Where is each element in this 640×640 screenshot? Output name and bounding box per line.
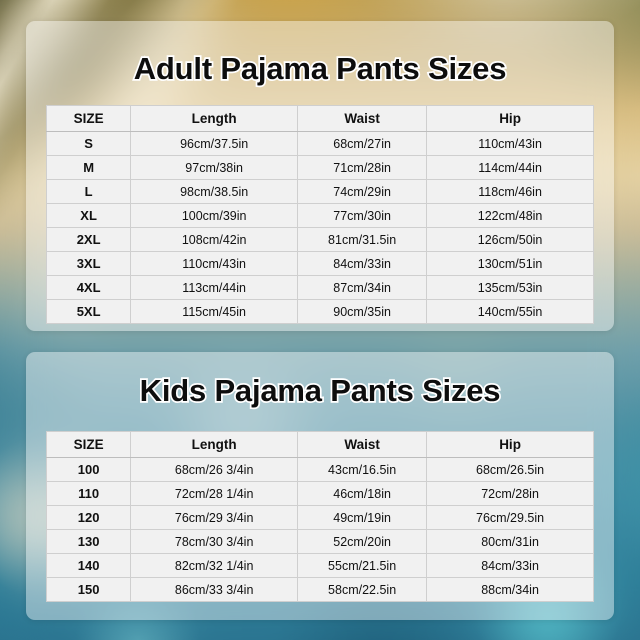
- cell-length: 110cm/43in: [131, 252, 298, 276]
- cell-length: 113cm/44in: [131, 276, 298, 300]
- cell-length: 108cm/42in: [131, 228, 298, 252]
- cell-waist: 68cm/27in: [298, 132, 427, 156]
- table-row: 15086cm/33 3/4in58cm/22.5in88cm/34in: [47, 578, 594, 602]
- cell-hip: 130cm/51in: [427, 252, 594, 276]
- cell-hip: 122cm/48in: [427, 204, 594, 228]
- table-row: 10068cm/26 3/4in43cm/16.5in68cm/26.5in: [47, 458, 594, 482]
- cell-length: 97cm/38in: [131, 156, 298, 180]
- cell-hip: 80cm/31in: [427, 530, 594, 554]
- cell-size: M: [47, 156, 131, 180]
- table-row: 11072cm/28 1/4in46cm/18in72cm/28in: [47, 482, 594, 506]
- cell-size: 5XL: [47, 300, 131, 324]
- cell-size: 140: [47, 554, 131, 578]
- table-header-row: SIZE Length Waist Hip: [47, 432, 594, 458]
- cell-hip: 76cm/29.5in: [427, 506, 594, 530]
- adult-size-panel: Adult Pajama Pants Sizes SIZE Length Wai…: [26, 21, 614, 331]
- cell-length: 78cm/30 3/4in: [131, 530, 298, 554]
- cell-hip: 140cm/55in: [427, 300, 594, 324]
- table-row: 2XL108cm/42in81cm/31.5in126cm/50in: [47, 228, 594, 252]
- column-header-length: Length: [131, 106, 298, 132]
- column-header-waist: Waist: [298, 432, 427, 458]
- cell-waist: 55cm/21.5in: [298, 554, 427, 578]
- table-row: 14082cm/32 1/4in55cm/21.5in84cm/33in: [47, 554, 594, 578]
- cell-size: 120: [47, 506, 131, 530]
- cell-waist: 43cm/16.5in: [298, 458, 427, 482]
- table-row: M97cm/38in71cm/28in114cm/44in: [47, 156, 594, 180]
- table-header-row: SIZE Length Waist Hip: [47, 106, 594, 132]
- cell-waist: 46cm/18in: [298, 482, 427, 506]
- cell-length: 115cm/45in: [131, 300, 298, 324]
- cell-waist: 52cm/20in: [298, 530, 427, 554]
- cell-size: XL: [47, 204, 131, 228]
- table-row: 5XL115cm/45in90cm/35in140cm/55in: [47, 300, 594, 324]
- table-row: S96cm/37.5in68cm/27in110cm/43in: [47, 132, 594, 156]
- cell-size: 110: [47, 482, 131, 506]
- cell-length: 68cm/26 3/4in: [131, 458, 298, 482]
- kids-size-panel: Kids Pajama Pants Sizes SIZE Length Wais…: [26, 352, 614, 620]
- adult-panel-title: Adult Pajama Pants Sizes: [26, 53, 614, 84]
- adult-table-body: S96cm/37.5in68cm/27in110cm/43inM97cm/38i…: [47, 132, 594, 324]
- cell-hip: 68cm/26.5in: [427, 458, 594, 482]
- cell-hip: 118cm/46in: [427, 180, 594, 204]
- table-row: 12076cm/29 3/4in49cm/19in76cm/29.5in: [47, 506, 594, 530]
- cell-length: 76cm/29 3/4in: [131, 506, 298, 530]
- table-row: XL100cm/39in77cm/30in122cm/48in: [47, 204, 594, 228]
- cell-size: L: [47, 180, 131, 204]
- cell-size: 150: [47, 578, 131, 602]
- table-row: 4XL113cm/44in87cm/34in135cm/53in: [47, 276, 594, 300]
- cell-waist: 58cm/22.5in: [298, 578, 427, 602]
- cell-hip: 88cm/34in: [427, 578, 594, 602]
- cell-length: 100cm/39in: [131, 204, 298, 228]
- table-row: 3XL110cm/43in84cm/33in130cm/51in: [47, 252, 594, 276]
- column-header-waist: Waist: [298, 106, 427, 132]
- cell-hip: 126cm/50in: [427, 228, 594, 252]
- cell-waist: 49cm/19in: [298, 506, 427, 530]
- kids-panel-title: Kids Pajama Pants Sizes: [26, 375, 614, 406]
- cell-waist: 87cm/34in: [298, 276, 427, 300]
- column-header-size: SIZE: [47, 106, 131, 132]
- cell-size: 2XL: [47, 228, 131, 252]
- cell-size: 100: [47, 458, 131, 482]
- kids-table-body: 10068cm/26 3/4in43cm/16.5in68cm/26.5in11…: [47, 458, 594, 602]
- cell-waist: 84cm/33in: [298, 252, 427, 276]
- table-row: 13078cm/30 3/4in52cm/20in80cm/31in: [47, 530, 594, 554]
- column-header-hip: Hip: [427, 106, 594, 132]
- cell-waist: 81cm/31.5in: [298, 228, 427, 252]
- cell-hip: 84cm/33in: [427, 554, 594, 578]
- adult-size-table: SIZE Length Waist Hip S96cm/37.5in68cm/2…: [46, 105, 594, 324]
- cell-length: 98cm/38.5in: [131, 180, 298, 204]
- column-header-hip: Hip: [427, 432, 594, 458]
- table-row: L98cm/38.5in74cm/29in118cm/46in: [47, 180, 594, 204]
- cell-length: 96cm/37.5in: [131, 132, 298, 156]
- cell-waist: 74cm/29in: [298, 180, 427, 204]
- cell-length: 82cm/32 1/4in: [131, 554, 298, 578]
- cell-hip: 135cm/53in: [427, 276, 594, 300]
- cell-size: 130: [47, 530, 131, 554]
- cell-waist: 71cm/28in: [298, 156, 427, 180]
- cell-hip: 114cm/44in: [427, 156, 594, 180]
- cell-waist: 90cm/35in: [298, 300, 427, 324]
- kids-size-table: SIZE Length Waist Hip 10068cm/26 3/4in43…: [46, 431, 594, 602]
- column-header-length: Length: [131, 432, 298, 458]
- cell-size: 4XL: [47, 276, 131, 300]
- cell-hip: 110cm/43in: [427, 132, 594, 156]
- cell-hip: 72cm/28in: [427, 482, 594, 506]
- cell-size: S: [47, 132, 131, 156]
- cell-length: 72cm/28 1/4in: [131, 482, 298, 506]
- cell-length: 86cm/33 3/4in: [131, 578, 298, 602]
- cell-waist: 77cm/30in: [298, 204, 427, 228]
- column-header-size: SIZE: [47, 432, 131, 458]
- cell-size: 3XL: [47, 252, 131, 276]
